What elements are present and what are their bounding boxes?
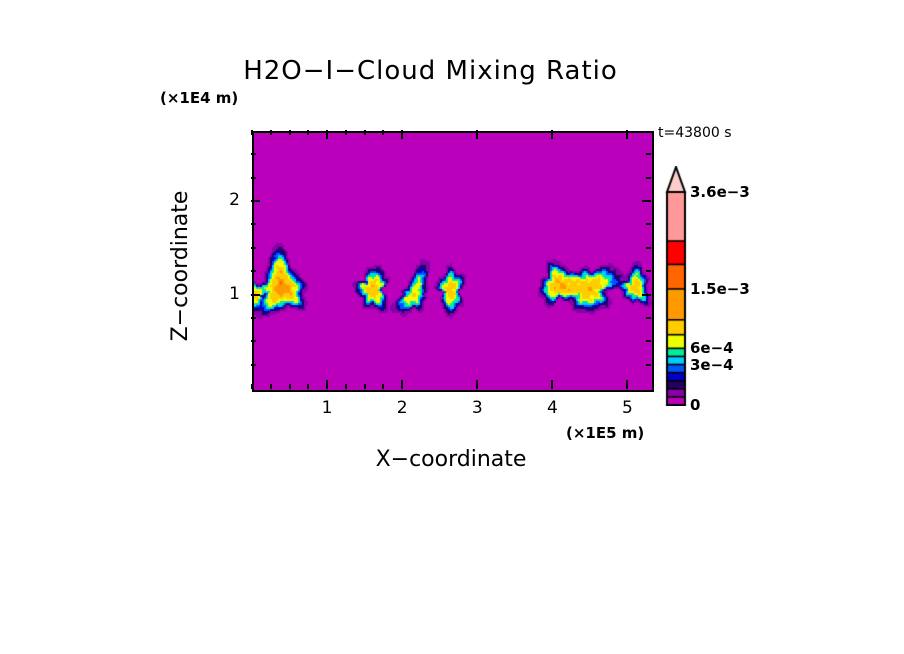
y-axis-tick	[251, 200, 260, 202]
x-axis-tick-label: 5	[607, 398, 647, 418]
y-axis-minor-tick	[646, 317, 651, 319]
x-axis-tick	[401, 380, 403, 389]
y-axis-tick-label: 2	[200, 190, 240, 210]
x-axis-tick-label: 4	[532, 398, 572, 418]
y-axis-minor-tick	[251, 177, 256, 179]
y-axis-tick-label: 1	[200, 284, 240, 304]
page-title: H2O−I−Cloud Mixing Ratio	[0, 56, 904, 86]
y-axis-minor-tick	[251, 364, 256, 366]
y-axis-minor-tick	[646, 247, 651, 249]
x-axis-unit-label: (×1E5 m)	[566, 424, 644, 442]
x-axis-tick	[326, 380, 328, 389]
timestamp-label: t=43800 s	[658, 125, 732, 141]
y-axis-minor-tick	[251, 223, 256, 225]
x-axis-minor-tick	[251, 130, 253, 135]
y-axis-minor-tick	[251, 153, 256, 155]
y-axis-minor-tick	[646, 223, 651, 225]
x-axis-tick-label: 3	[457, 398, 497, 418]
x-axis-tick-label: 2	[382, 398, 422, 418]
colorbar-tick-label: 3e−4	[690, 356, 734, 374]
y-axis-minor-tick	[646, 177, 651, 179]
x-axis-minor-tick	[307, 130, 309, 135]
y-axis-minor-tick	[646, 340, 651, 342]
x-axis-minor-tick	[345, 130, 347, 135]
x-axis-minor-tick	[364, 384, 366, 389]
y-axis-minor-tick	[251, 317, 256, 319]
x-axis-tick	[626, 130, 628, 139]
x-axis-tick	[326, 130, 328, 139]
x-axis-minor-tick	[382, 384, 384, 389]
x-axis-tick	[551, 380, 553, 389]
y-axis-minor-tick	[646, 364, 651, 366]
y-axis-minor-tick	[251, 247, 256, 249]
x-axis-minor-tick	[364, 130, 366, 135]
x-axis-minor-tick	[251, 384, 253, 389]
colorbar-tick-label: 1.5e−3	[690, 280, 750, 298]
x-axis-tick	[476, 130, 478, 139]
x-axis-minor-tick	[289, 130, 291, 135]
y-axis-minor-tick	[646, 153, 651, 155]
colorbar-tick-label: 3.6e−3	[690, 183, 750, 201]
y-axis-title: Z−coordinate	[168, 176, 190, 356]
y-axis-unit-label: (×1E4 m)	[160, 89, 238, 107]
plot-area	[252, 131, 654, 392]
y-axis-tick	[642, 200, 651, 202]
colorbar-tick-label: 0	[690, 396, 700, 414]
x-axis-tick	[476, 380, 478, 389]
x-axis-minor-tick	[270, 384, 272, 389]
y-axis-minor-tick	[251, 270, 256, 272]
x-axis-tick	[626, 380, 628, 389]
x-axis-tick	[401, 130, 403, 139]
x-axis-minor-tick	[345, 384, 347, 389]
x-axis-minor-tick	[289, 384, 291, 389]
x-axis-tick	[551, 130, 553, 139]
x-axis-minor-tick	[382, 130, 384, 135]
y-axis-tick	[642, 294, 651, 296]
x-axis-title: X−coordinate	[252, 447, 650, 472]
y-axis-minor-tick	[646, 270, 651, 272]
y-axis-minor-tick	[251, 340, 256, 342]
x-axis-minor-tick	[270, 130, 272, 135]
x-axis-minor-tick	[307, 384, 309, 389]
cloud-mixing-ratio-heatmap	[254, 133, 652, 390]
x-axis-tick-label: 1	[307, 398, 347, 418]
y-axis-tick	[251, 294, 260, 296]
